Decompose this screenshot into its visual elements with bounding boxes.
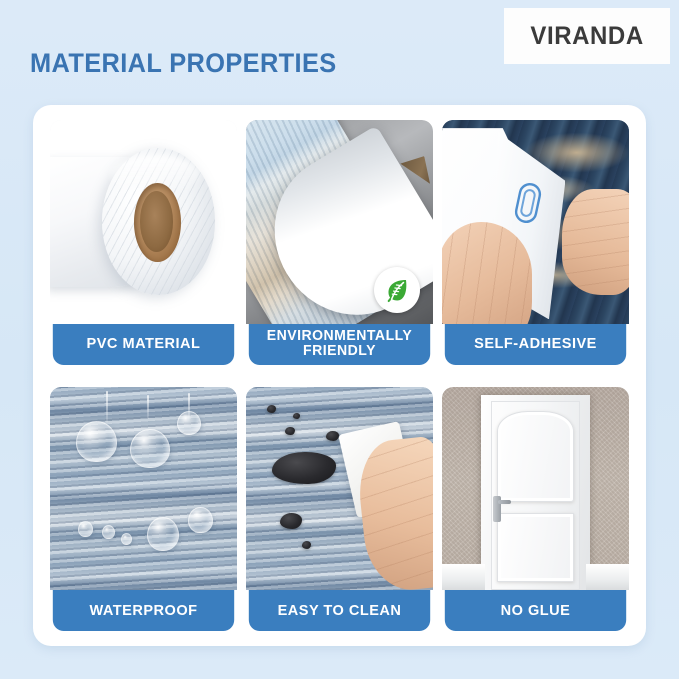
infographic-page: MATERIAL PROPERTIES VIRANDA PVC MATERIAL bbox=[0, 0, 679, 679]
dirt-smudge bbox=[280, 513, 302, 529]
pvc-roll-image bbox=[50, 120, 237, 324]
feature-label-pvc-material: PVC MATERIAL bbox=[53, 324, 234, 365]
blue-woodgrain-surface bbox=[50, 387, 237, 591]
door-handle bbox=[493, 496, 501, 522]
self-adhesive-image bbox=[442, 120, 629, 324]
brand-name: VIRANDA bbox=[530, 22, 643, 51]
water-drip-trail bbox=[106, 391, 108, 424]
water-droplet bbox=[188, 507, 212, 533]
water-droplet bbox=[147, 517, 179, 552]
feature-label-no-glue: NO GLUE bbox=[445, 590, 626, 631]
water-droplet bbox=[130, 429, 169, 468]
door-panel-bottom bbox=[497, 513, 574, 582]
header: MATERIAL PROPERTIES VIRANDA bbox=[0, 0, 679, 105]
page-title: MATERIAL PROPERTIES bbox=[30, 48, 337, 79]
skirting-board-left bbox=[442, 564, 485, 590]
feature-label-waterproof: WATERPROOF bbox=[53, 590, 234, 631]
feature-tile-pvc-material[interactable]: PVC MATERIAL bbox=[50, 120, 237, 365]
brand-logo: VIRANDA bbox=[504, 8, 670, 64]
feature-label-easy-to-clean: EASY TO CLEAN bbox=[249, 590, 430, 631]
dirt-speck bbox=[285, 427, 294, 435]
right-hand-shape bbox=[562, 189, 629, 295]
waterproof-image bbox=[50, 387, 237, 591]
eco-roll-illustration bbox=[246, 120, 433, 324]
easy-to-clean-image bbox=[246, 387, 433, 591]
water-droplet bbox=[76, 421, 117, 462]
features-card: PVC MATERIAL bbox=[33, 105, 646, 646]
leaf-icon bbox=[383, 276, 411, 304]
features-grid: PVC MATERIAL bbox=[50, 120, 629, 631]
dirt-smudge bbox=[272, 452, 336, 485]
door-illustration bbox=[442, 387, 629, 591]
door-panel-top bbox=[497, 411, 574, 503]
feature-label-self-adhesive: SELF-ADHESIVE bbox=[445, 324, 626, 365]
skirting-board-right bbox=[586, 564, 629, 590]
eco-badge bbox=[374, 267, 420, 313]
dirt-speck bbox=[267, 405, 276, 413]
water-drip-trail bbox=[147, 395, 149, 419]
feature-label-environmentally-friendly: ENVIRONMENTALLY FRIENDLY bbox=[249, 324, 430, 365]
feature-tile-easy-to-clean[interactable]: EASY TO CLEAN bbox=[246, 387, 433, 632]
feature-tile-self-adhesive[interactable]: SELF-ADHESIVE bbox=[442, 120, 629, 365]
feature-tile-environmentally-friendly[interactable]: ENVIRONMENTALLY FRIENDLY bbox=[246, 120, 433, 365]
no-glue-image bbox=[442, 387, 629, 591]
feature-tile-no-glue[interactable]: NO GLUE bbox=[442, 387, 629, 632]
water-droplet bbox=[78, 521, 93, 537]
feature-tile-waterproof[interactable]: WATERPROOF bbox=[50, 387, 237, 632]
eco-roll-image bbox=[246, 120, 433, 324]
pvc-roll-illustration bbox=[50, 120, 237, 324]
self-adhesive-illustration bbox=[442, 120, 629, 324]
